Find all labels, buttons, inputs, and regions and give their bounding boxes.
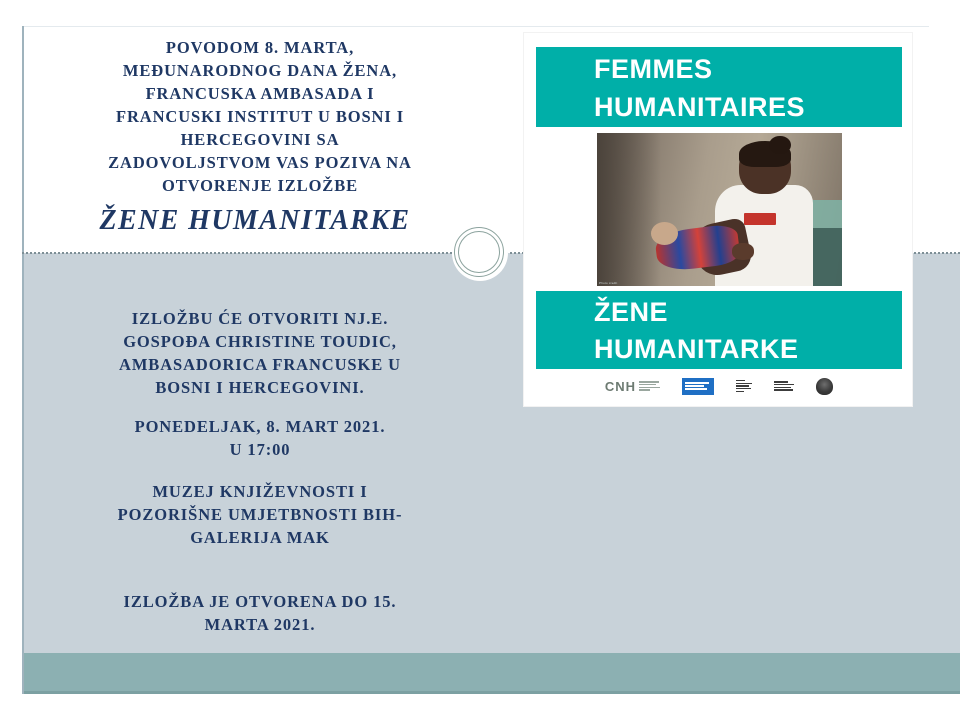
opening-line-3: AMBASADORICA FRANCUSKE U (40, 353, 480, 376)
left-border-line (22, 26, 24, 694)
ministry-logo (774, 381, 794, 391)
photo-woman-hair-bun (769, 136, 791, 154)
photo-tshirt-logo (744, 213, 776, 225)
footer-bar-shadow (22, 691, 960, 694)
poster-title-bs-line-1: ŽENE (594, 294, 902, 331)
photo-credit-text: Photo credit (599, 281, 617, 285)
intro-line-5: HERCEGOVINI SA (40, 128, 480, 151)
footer-bar (22, 653, 960, 691)
opening-line-1: IZLOŽBU ĆE OTVORITI NJ.E. (40, 307, 480, 330)
intro-line-2: MEĐUNARODNOG DANA ŽENA, (40, 59, 480, 82)
time-line: U 17:00 (40, 438, 480, 461)
intro-line-7: OTVORENJE IZLOŽBE (40, 174, 480, 197)
seal-logo (816, 378, 833, 395)
exhibition-title: ŽENE HUMANITARKE (40, 205, 470, 237)
cnh-logo-subtext (639, 381, 660, 390)
opening-statement-block: IZLOŽBU ĆE OTVORITI NJ.E. GOSPOĐA CHRIST… (40, 307, 480, 399)
top-border-line (22, 26, 929, 27)
duration-line-2: MARTA 2021. (40, 613, 480, 636)
opening-line-4: BOSNI I HERCEGOVINI. (40, 376, 480, 399)
venue-line-3: GALERIJA MAK (40, 526, 480, 549)
invitation-slide: POVODOM 8. MARTA, MEĐUNARODNOG DANA ŽENA… (0, 0, 960, 720)
poster-title-bs-line-2: HUMANITARKE (594, 331, 902, 368)
france-logo (682, 378, 714, 395)
republique-francaise-logo (736, 380, 752, 393)
photo-woman-hand (732, 243, 754, 260)
date-line: PONEDELJAK, 8. MART 2021. (40, 415, 480, 438)
venue-block: MUZEJ KNJIŽEVNOSTI I POZORIŠNE UMJETBNOS… (40, 480, 480, 549)
poster-title-fr-line-1: FEMMES (594, 50, 902, 88)
poster-logo-strip: CNH (536, 373, 902, 399)
intro-paragraph: POVODOM 8. MARTA, MEĐUNARODNOG DANA ŽENA… (40, 36, 480, 197)
intro-line-4: FRANCUSKI INSTITUT U BOSNI I (40, 105, 480, 128)
photo-baby-head (651, 222, 678, 245)
intro-line-6: ZADOVOLJSTVOM VAS POZIVA NA (40, 151, 480, 174)
venue-line-1: MUZEJ KNJIŽEVNOSTI I (40, 480, 480, 503)
poster-photograph: Photo credit (597, 133, 842, 286)
opening-line-2: GOSPOĐA CHRISTINE TOUDIC, (40, 330, 480, 353)
venue-line-2: POZORIŠNE UMJETBNOSTI BIH- (40, 503, 480, 526)
cnh-logo: CNH (605, 379, 660, 394)
duration-line-1: IZLOŽBA JE OTVORENA DO 15. (40, 590, 480, 613)
photo-shadow-left (597, 133, 661, 286)
intro-line-1: POVODOM 8. MARTA, (40, 36, 480, 59)
date-time-block: PONEDELJAK, 8. MART 2021. U 17:00 (40, 415, 480, 461)
exhibition-poster: FEMMES HUMANITAIRES Photo credit ŽENE HU… (524, 33, 912, 406)
cnh-logo-text: CNH (605, 379, 636, 394)
poster-title-french: FEMMES HUMANITAIRES (536, 47, 902, 127)
poster-title-bosnian: ŽENE HUMANITARKE (536, 291, 902, 369)
circle-inner-ring (458, 231, 500, 273)
intro-line-3: FRANCUSKA AMBASADA I (40, 82, 480, 105)
duration-block: IZLOŽBA JE OTVORENA DO 15. MARTA 2021. (40, 590, 480, 636)
poster-title-fr-line-2: HUMANITAIRES (594, 88, 902, 126)
